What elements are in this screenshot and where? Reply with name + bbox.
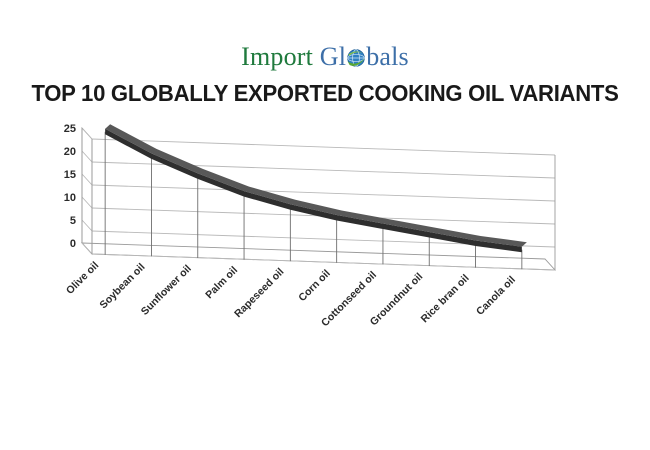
page-title: TOP 10 GLOBALLY EXPORTED COOKING OIL VAR… bbox=[20, 80, 631, 107]
logo-text-gl: Gl bbox=[320, 42, 346, 71]
chart-line-ribbon-top bbox=[105, 124, 527, 246]
y-axis-tick-label: 10 bbox=[64, 192, 76, 204]
chart-3d-line: 0510152025 Olive oilSoybean oilSunflower… bbox=[0, 110, 650, 370]
chart-line-series bbox=[105, 124, 527, 252]
logo-text-import: Import bbox=[241, 42, 313, 71]
x-axis-category-label: Corn oil bbox=[296, 267, 333, 304]
y-axis-tick-label: 0 bbox=[70, 238, 76, 250]
y-axis-tick-label: 25 bbox=[64, 123, 76, 135]
y-axis-tick-label: 15 bbox=[64, 169, 76, 181]
chart-category-labels: Olive oilSoybean oilSunflower oilPalm oi… bbox=[64, 259, 518, 329]
x-axis-category-label: Olive oil bbox=[64, 259, 101, 296]
chart-left-wall bbox=[82, 128, 92, 254]
logo-text-bals: bals bbox=[366, 42, 409, 71]
x-axis-category-label: Palm oil bbox=[203, 264, 240, 301]
x-axis-category-label: Rice bran oil bbox=[419, 272, 472, 325]
x-axis-category-label: Canola oil bbox=[474, 274, 518, 318]
import-globals-logo: Import Gl bals bbox=[0, 42, 650, 72]
chart-y-axis: 0510152025 bbox=[64, 123, 82, 250]
x-axis-category-label: Sunflower oil bbox=[139, 263, 194, 318]
x-axis-category-label: Rapeseed oil bbox=[232, 266, 286, 320]
x-axis-category-label: Soybean oil bbox=[97, 261, 147, 311]
y-axis-tick-label: 20 bbox=[64, 146, 76, 158]
globe-icon bbox=[346, 45, 366, 65]
y-axis-tick-label: 5 bbox=[70, 215, 76, 227]
